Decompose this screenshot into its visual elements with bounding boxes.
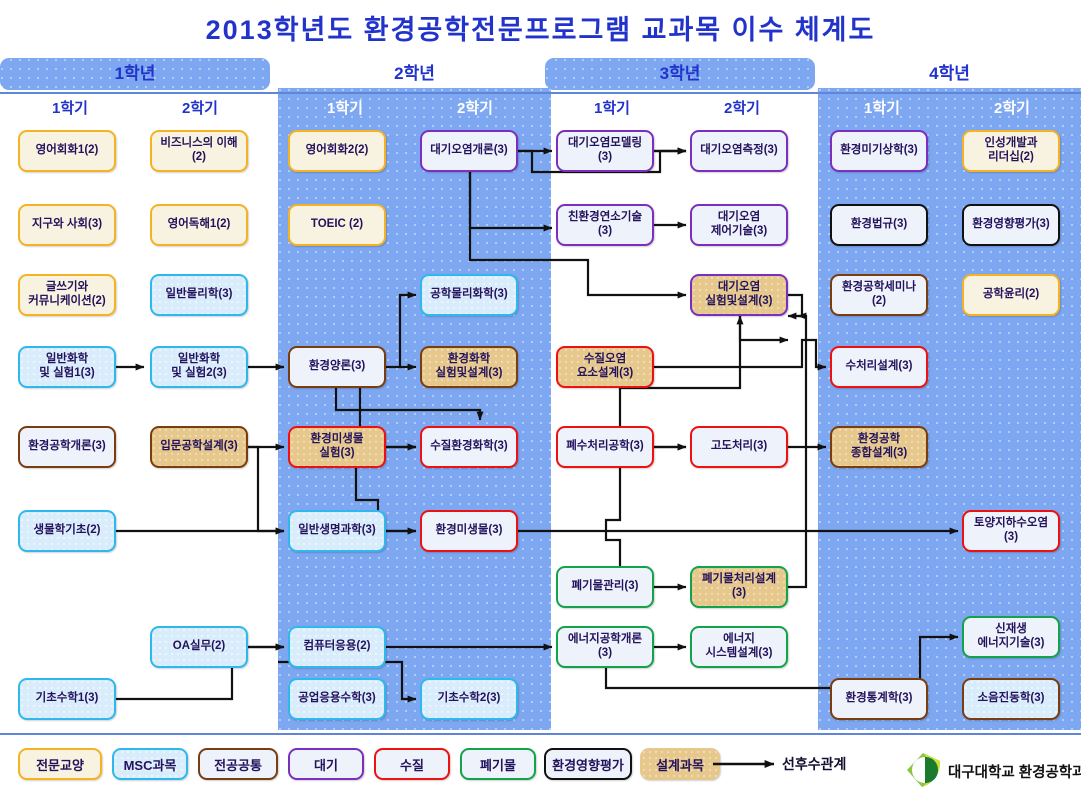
course-box[interactable]: 기초수학2(3) xyxy=(420,678,518,720)
course-box[interactable]: 폐수처리공학(3) xyxy=(556,426,654,468)
course-box[interactable]: 대기오염 제어기술(3) xyxy=(690,204,788,246)
curriculum-flowchart-page: 2013학년도 환경공학전문프로그램 교과목 이수 체계도 1학년2학년3학년4… xyxy=(0,0,1081,794)
semester-label-1: 1학기 xyxy=(10,98,130,120)
prerequisite-arrow-27 xyxy=(788,295,802,316)
legend-arrow-icon xyxy=(712,755,778,773)
course-box[interactable]: 환경공학세미나 (2) xyxy=(830,274,928,316)
prerequisite-arrow-22 xyxy=(740,316,788,340)
course-box[interactable]: 대기오염 실험및설계(3) xyxy=(690,274,788,316)
course-box[interactable]: 환경통계학(3) xyxy=(830,678,928,720)
course-box[interactable]: 수질환경화학(3) xyxy=(420,426,518,468)
page-title: 2013학년도 환경공학전문프로그램 교과목 이수 체계도 xyxy=(0,8,1081,47)
year-label-2: 2학년 xyxy=(278,60,551,88)
course-box[interactable]: 영어회화2(2) xyxy=(288,130,386,172)
course-box[interactable]: 환경공학개론(3) xyxy=(18,426,116,468)
legend-arrow-label: 선후수관계 xyxy=(782,754,846,774)
course-box[interactable]: 폐기물관리(3) xyxy=(556,566,654,608)
university-department-label: 대구대학교 환경공학과 xyxy=(948,761,1081,782)
course-box[interactable]: 일반화학 및 실험1(3) xyxy=(18,346,116,388)
course-box[interactable]: 글쓰기와 커뮤니케이션(2) xyxy=(18,274,116,316)
course-box[interactable]: 비즈니스의 이해 (2) xyxy=(150,130,248,172)
course-box[interactable]: 신재생 에너지기술(3) xyxy=(962,616,1060,658)
course-box[interactable]: 폐기물처리설계 (3) xyxy=(690,566,788,608)
semester-label-6: 2학기 xyxy=(682,98,802,120)
legend-item[interactable]: 대기 xyxy=(288,748,364,780)
course-box[interactable]: 환경영향평가(3) xyxy=(962,204,1060,246)
semester-label-2: 2학기 xyxy=(140,98,260,120)
semester-label-5: 1학기 xyxy=(552,98,672,120)
prerequisite-arrow-21 xyxy=(654,340,826,367)
semester-label-7: 1학기 xyxy=(822,98,942,120)
legend-item[interactable]: 환경영향평가 xyxy=(544,748,632,780)
course-box[interactable]: 영어회화1(2) xyxy=(18,130,116,172)
header-divider xyxy=(0,92,1081,94)
legend-item[interactable]: 전공공통 xyxy=(198,748,278,780)
prerequisite-arrow-28 xyxy=(788,316,806,587)
legend-item[interactable]: MSC과목 xyxy=(112,748,188,780)
course-box[interactable]: 공학물리화학(3) xyxy=(420,274,518,316)
course-box[interactable]: 대기오염모델링 (3) xyxy=(556,130,654,172)
course-box[interactable]: 대기오염개론(3) xyxy=(420,130,518,172)
course-box[interactable]: 수질오염 요소설계(3) xyxy=(556,346,654,388)
course-box[interactable]: 환경화학 실험및설계(3) xyxy=(420,346,518,388)
semester-label-4: 2학기 xyxy=(415,98,535,120)
course-box[interactable]: 일반생명과학(3) xyxy=(288,510,386,552)
course-box[interactable]: 기초수학1(3) xyxy=(18,678,116,720)
year-label-4: 4학년 xyxy=(818,60,1081,88)
course-box[interactable]: 환경법규(3) xyxy=(830,204,928,246)
course-box[interactable]: 공학윤리(2) xyxy=(962,274,1060,316)
course-box[interactable]: 환경미생물 실험(3) xyxy=(288,426,386,468)
course-box[interactable]: 수처리설계(3) xyxy=(830,346,928,388)
course-box[interactable]: 환경공학 종합설계(3) xyxy=(830,426,928,468)
course-box[interactable]: 대기오염측정(3) xyxy=(690,130,788,172)
legend-item[interactable]: 전문교양 xyxy=(18,748,102,780)
course-box[interactable]: 환경미생물(3) xyxy=(420,510,518,552)
year-label-3: 3학년 xyxy=(545,60,815,88)
course-box[interactable]: OA실무(2) xyxy=(150,626,248,668)
semester-label-8: 2학기 xyxy=(952,98,1072,120)
course-box[interactable]: 일반물리학(3) xyxy=(150,274,248,316)
semester-label-3: 1학기 xyxy=(285,98,405,120)
course-box[interactable]: 친환경연소기술 (3) xyxy=(556,204,654,246)
course-box[interactable]: 에너지공학개론 (3) xyxy=(556,626,654,668)
prerequisite-arrow-24 xyxy=(606,388,686,587)
course-box[interactable]: 고도처리(3) xyxy=(690,426,788,468)
course-box[interactable]: 생물학기초(2) xyxy=(18,510,116,552)
course-box[interactable]: 공업응용수학(3) xyxy=(288,678,386,720)
course-box[interactable]: 영어독해1(2) xyxy=(150,204,248,246)
course-box[interactable]: 입문공학설계(3) xyxy=(150,426,248,468)
year-label-1: 1학년 xyxy=(0,60,270,88)
course-box[interactable]: 일반화학 및 실험2(3) xyxy=(150,346,248,388)
course-box[interactable]: TOEIC (2) xyxy=(288,204,386,246)
legend-item[interactable]: 설계과목 xyxy=(640,748,720,780)
course-box[interactable]: 환경미기상학(3) xyxy=(830,130,928,172)
course-box[interactable]: 인성개발과 리더십(2) xyxy=(962,130,1060,172)
course-box[interactable]: 에너지 시스템설계(3) xyxy=(690,626,788,668)
course-box[interactable]: 소음진동학(3) xyxy=(962,678,1060,720)
course-box[interactable]: 토양지하수오염 (3) xyxy=(962,510,1060,552)
legend-item[interactable]: 폐기물 xyxy=(460,748,536,780)
course-box[interactable]: 컴퓨터응용(2) xyxy=(288,626,386,668)
course-box[interactable]: 지구와 사회(3) xyxy=(18,204,116,246)
legend-item[interactable]: 수질 xyxy=(374,748,450,780)
leaf-logo-icon xyxy=(900,750,946,790)
course-box[interactable]: 환경양론(3) xyxy=(288,346,386,388)
